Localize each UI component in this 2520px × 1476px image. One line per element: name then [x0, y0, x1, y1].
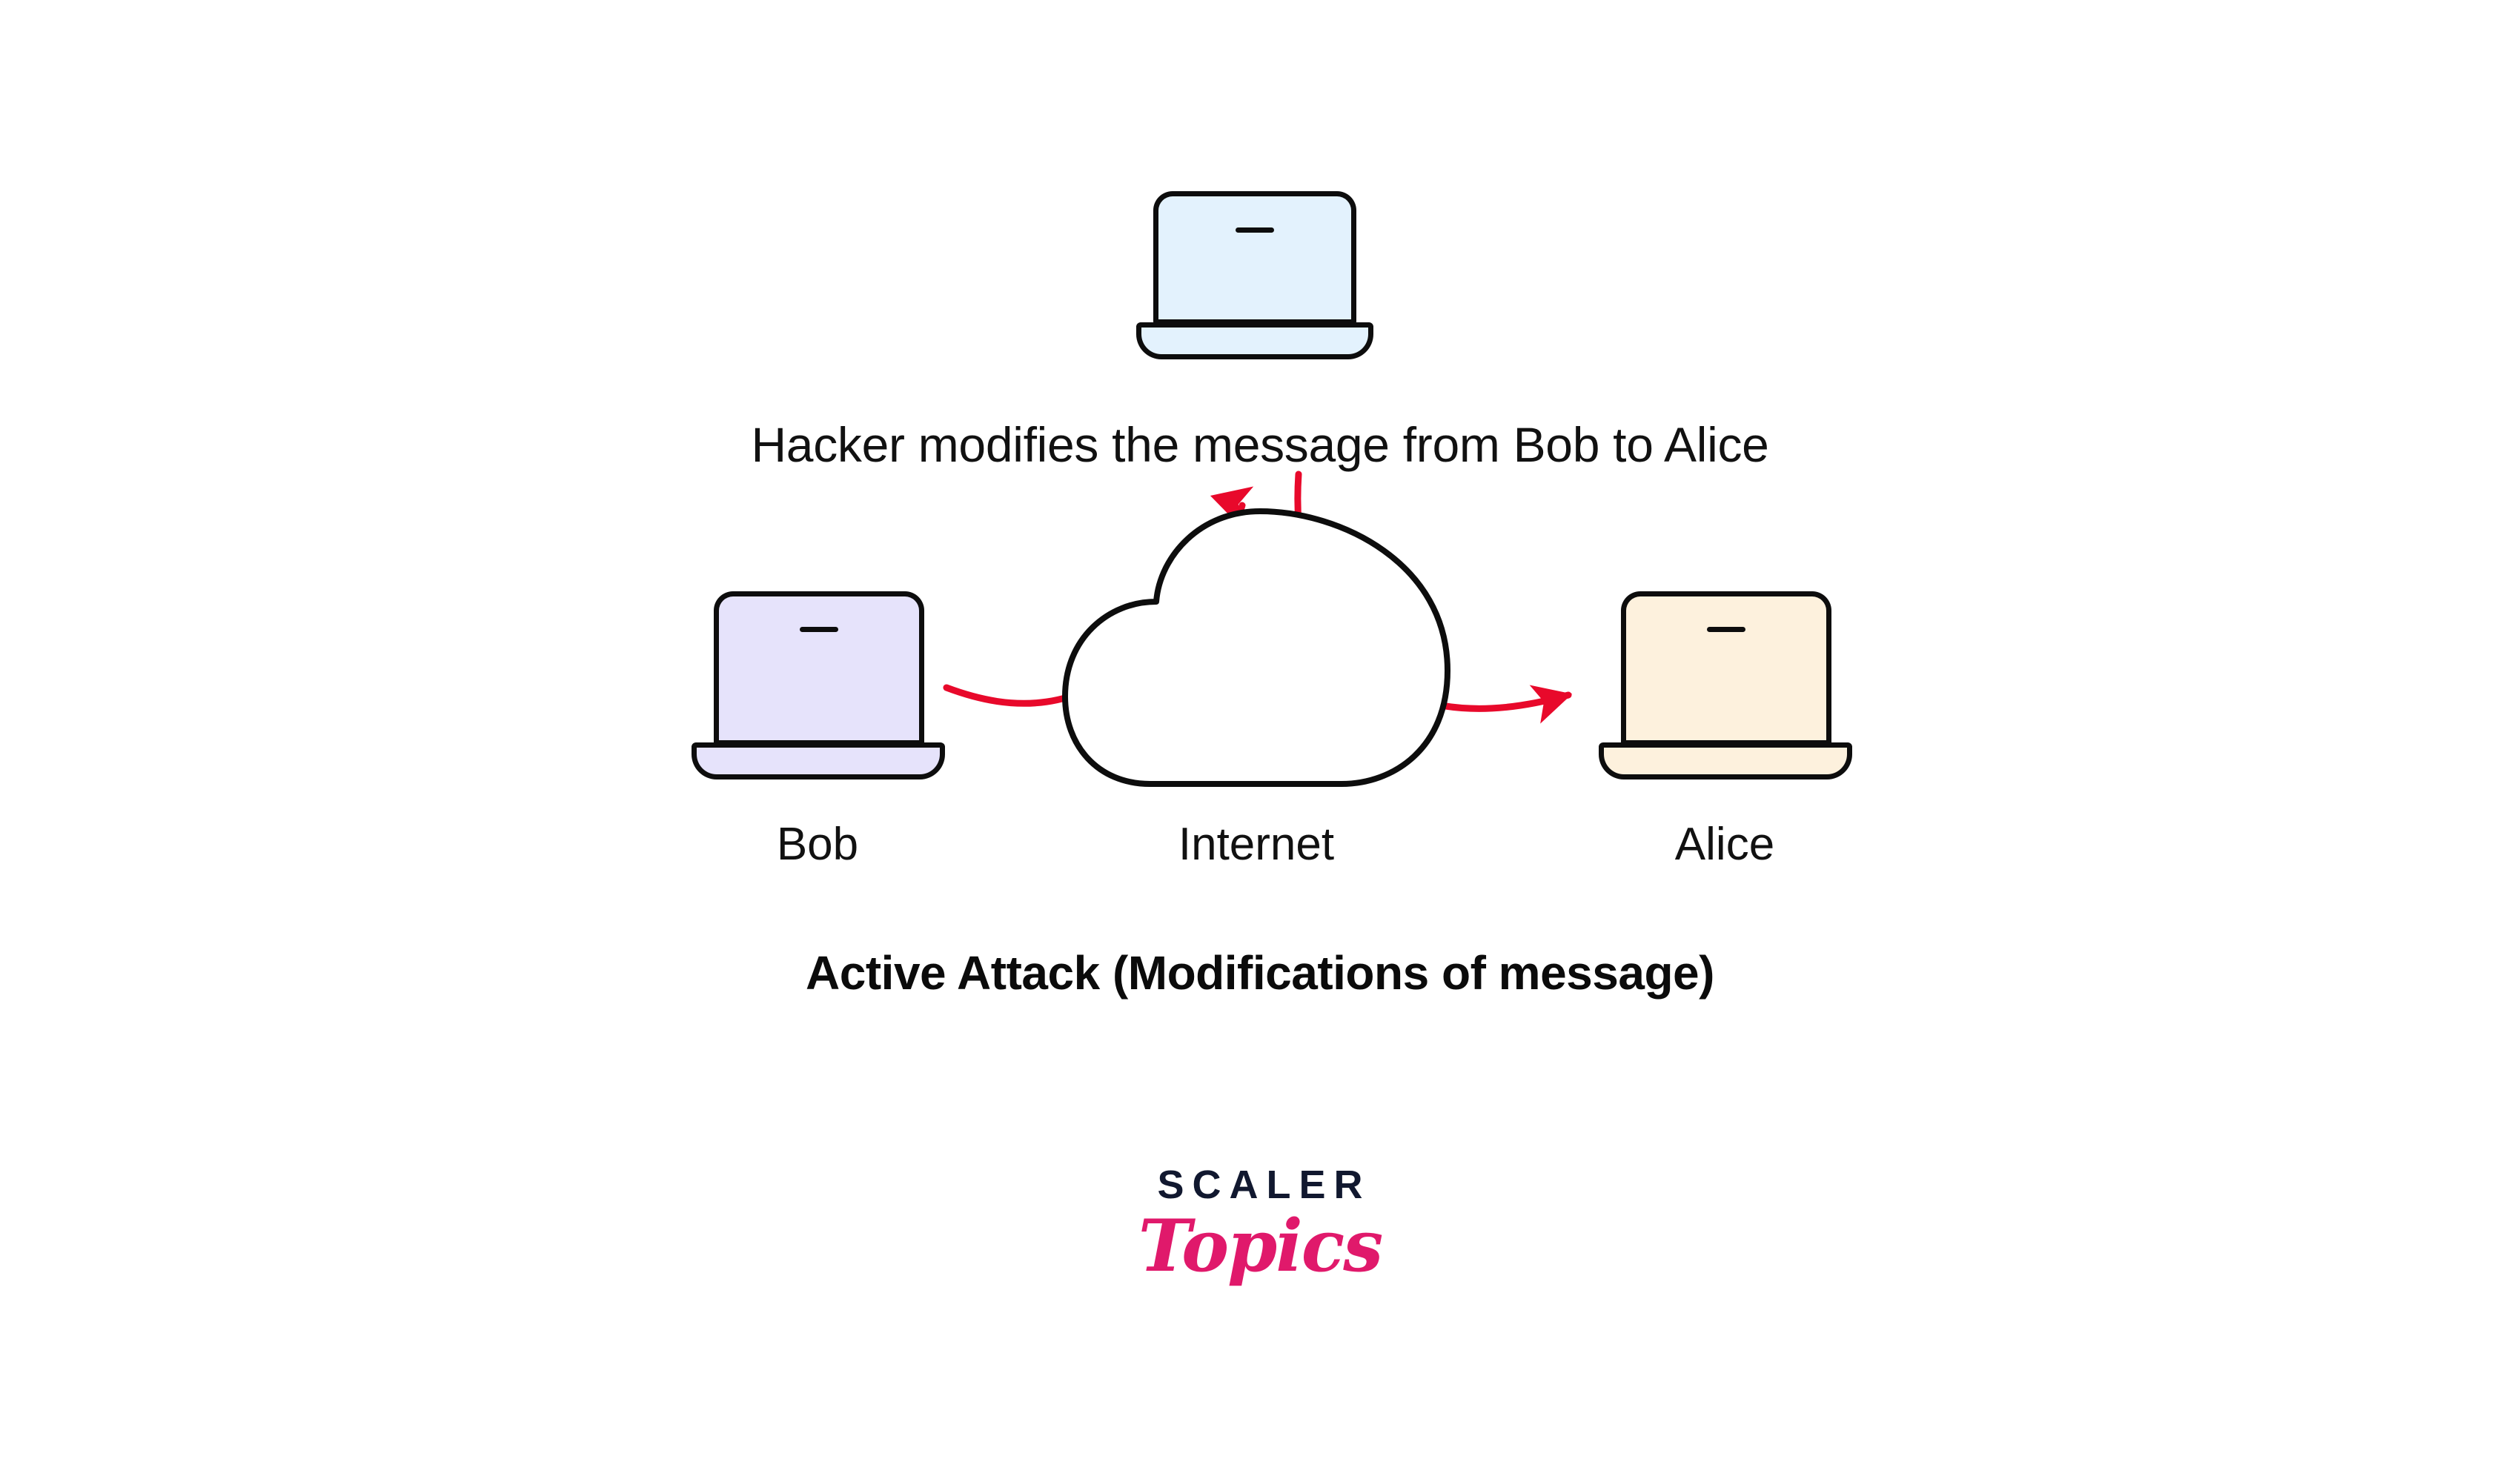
hacker-laptop-camera-bar — [1236, 227, 1274, 233]
bob-laptop-base — [692, 742, 945, 779]
scaler-topics-logo: SCALER Topics — [0, 1165, 2520, 1284]
hacker-laptop-screen — [1153, 191, 1356, 325]
alice-laptop-base — [1599, 742, 1852, 779]
diagram-title: Active Attack (Modifications of message) — [0, 945, 2520, 1000]
hacker-caption: Hacker modifies the message from Bob to … — [0, 416, 2520, 473]
cloud-icon — [1065, 511, 1448, 784]
hacker-laptop-base — [1136, 322, 1373, 359]
logo-product-text: Topics — [0, 1209, 2520, 1284]
laptop-icon-hacker — [1101, 191, 1413, 369]
alice-laptop-screen — [1621, 591, 1831, 745]
logo-brand-text: SCALER — [0, 1165, 2520, 1205]
laptop-icon-alice — [1569, 591, 1880, 785]
node-label-alice: Alice — [1576, 818, 1873, 871]
node-label-bob: Bob — [669, 818, 966, 871]
bob-laptop-camera-bar — [800, 627, 838, 632]
bob-laptop-screen — [714, 591, 924, 745]
laptop-icon-bob — [662, 591, 973, 785]
diagram-canvas: Hacker modifies the message from Bob to … — [0, 0, 2520, 1476]
alice-laptop-camera-bar — [1707, 627, 1745, 632]
node-label-internet: Internet — [1108, 818, 1405, 871]
